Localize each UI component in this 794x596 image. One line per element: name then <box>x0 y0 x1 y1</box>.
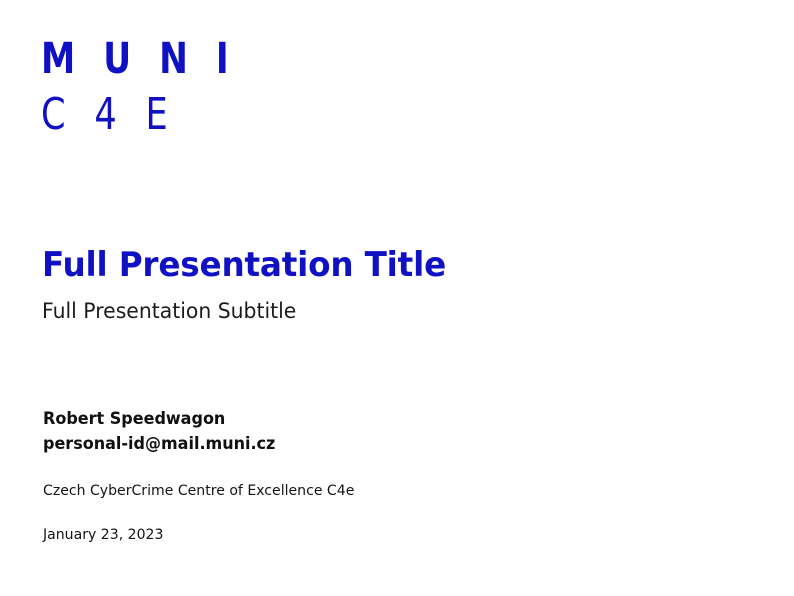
page-title: Full Presentation Title <box>42 245 714 285</box>
presentation-date: January 23, 2023 <box>43 525 722 545</box>
author-meta-block: Robert Speedwagon personal-id@mail.muni.… <box>43 406 743 545</box>
logo-c4e-wordmark: C 4 E <box>41 91 249 138</box>
title-block: Full Presentation Title Full Presentatio… <box>42 245 742 325</box>
author-name: Robert Speedwagon <box>43 406 722 431</box>
author-affiliation: Czech CyberCrime Centre of Excellence C4… <box>43 481 722 501</box>
muni-c4e-logo: M U N I C 4 E <box>41 36 301 138</box>
logo-muni-wordmark: M U N I <box>41 36 249 82</box>
author-email: personal-id@mail.muni.cz <box>43 431 722 456</box>
title-slide: M U N I C 4 E Full Presentation Title Fu… <box>0 0 794 596</box>
page-subtitle: Full Presentation Subtitle <box>42 297 721 325</box>
